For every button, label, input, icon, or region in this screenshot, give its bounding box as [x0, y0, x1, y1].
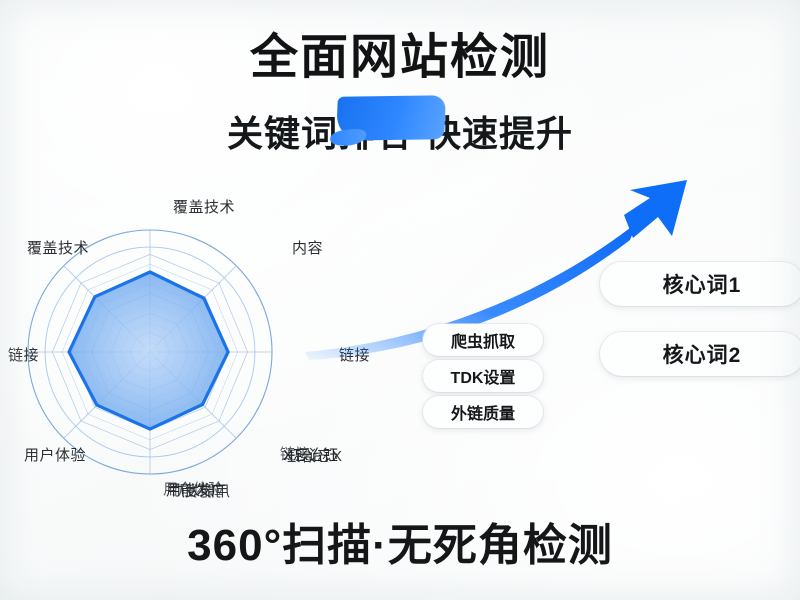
feature-pill-tdk-label: TDK设置 [451, 364, 516, 388]
page-title: 全面网站检测 [250, 34, 550, 82]
radar-axis-label-top: 覆盖技术 [173, 196, 235, 217]
headline-highlight-brush [336, 95, 446, 141]
feature-pill-backlink[interactable]: 外链质量 [423, 396, 543, 428]
radar-axis-label-left: 链接 [8, 344, 39, 365]
headline-container: 全面网站检测 [0, 34, 800, 82]
feature-pill-crawler-label: 爬虫抓取 [451, 328, 515, 352]
keyword-pill-1-label: 核心词1 [663, 269, 742, 299]
growth-arrow-head [624, 180, 687, 238]
keyword-pill-2[interactable]: 核心词2 [600, 332, 800, 376]
radar-axis-label-bottom-left: 用户体验 [24, 444, 86, 465]
feature-pill-backlink-label: 外链质量 [451, 400, 515, 424]
radar-axis-label-bottom-ghost-b: 用户体验 [163, 478, 223, 499]
footline-container: 360°扫描·无死角检测 [0, 524, 800, 568]
feature-pill-tdk[interactable]: TDK设置 [423, 360, 543, 392]
radar-geometry [28, 230, 272, 474]
feature-pill-crawler[interactable]: 爬虫抓取 [423, 324, 543, 356]
radar-axis-label-bottom-right-ghost-b: 链接 [280, 443, 310, 464]
keyword-pill-1[interactable]: 核心词1 [600, 262, 800, 306]
radar-axis-label-top-left: 覆盖技术 [27, 237, 89, 258]
radar-series-polygon [69, 272, 228, 429]
keyword-pill-2-label: 核心词2 [663, 339, 742, 369]
page-footline: 360°扫描·无死角检测 [187, 524, 613, 568]
